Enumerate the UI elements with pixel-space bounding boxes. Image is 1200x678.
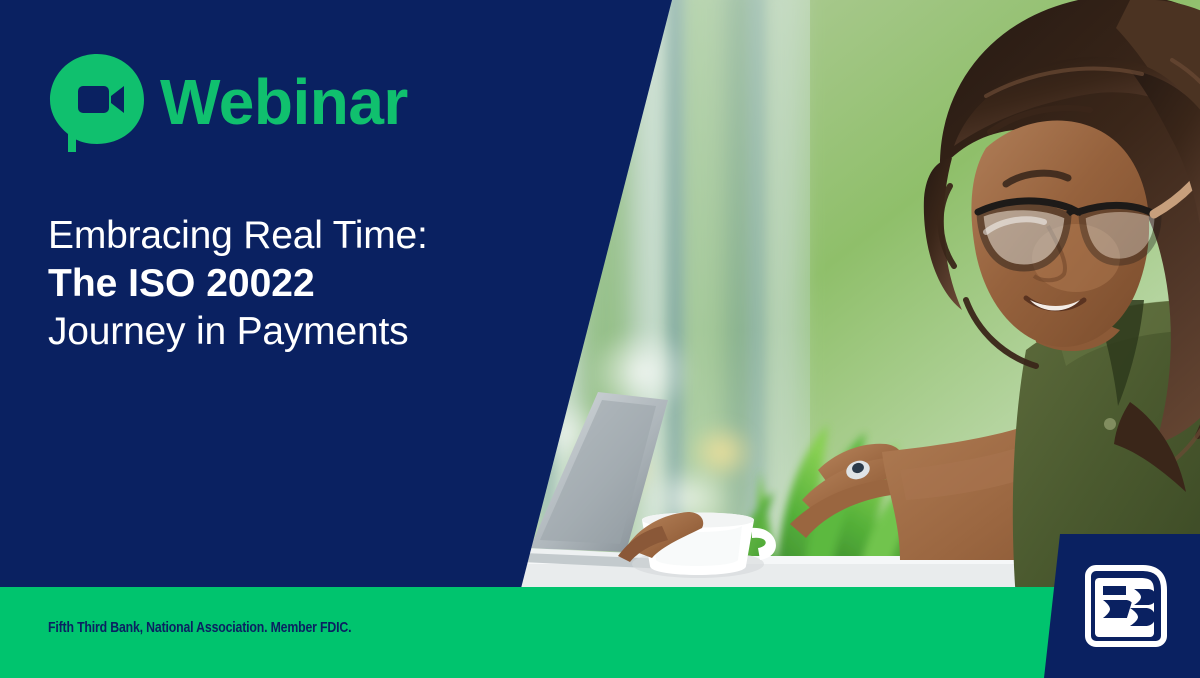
title-line-1: Embracing Real Time: [48,212,518,260]
slide-title: Embracing Real Time: The ISO 20022 Journ… [48,212,518,356]
fdic-disclosure: Fifth Third Bank, National Association. … [48,619,351,636]
title-line-2: The ISO 20022 [48,260,518,308]
video-chat-bubble-icon [48,52,146,152]
webinar-title-slide: Webinar Embracing Real Time: The ISO 200… [0,0,1200,678]
title-line-3: Journey in Payments [48,308,518,356]
webinar-badge: Webinar [48,52,408,152]
fifth-third-bank-logo [1082,562,1170,650]
webinar-label: Webinar [160,70,408,134]
